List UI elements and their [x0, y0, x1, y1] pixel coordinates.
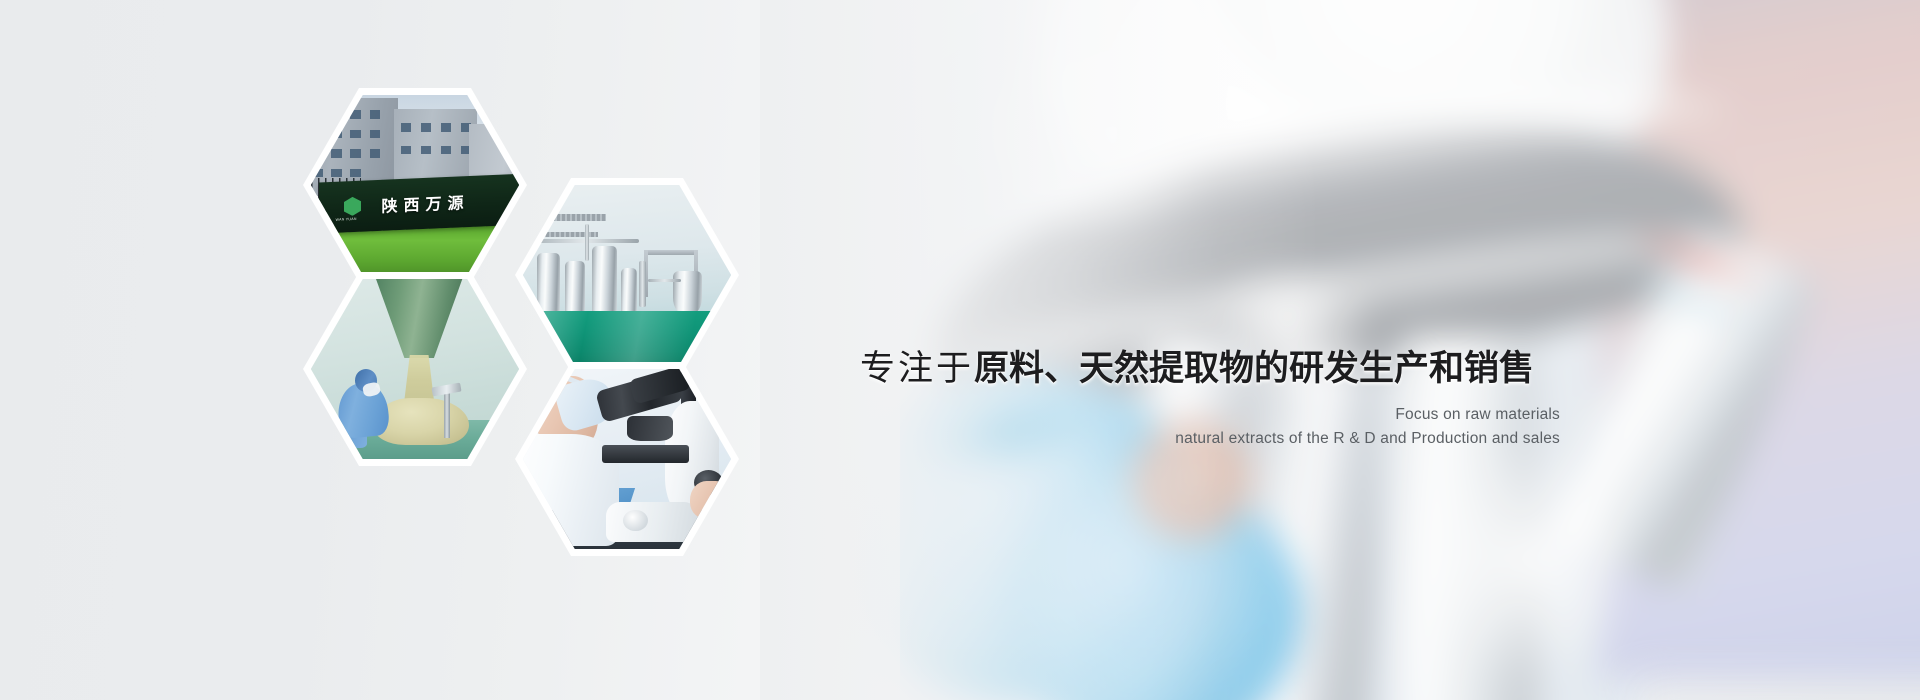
microscope-nosepiece: [627, 416, 673, 441]
company-logo-hex-icon: [344, 196, 361, 216]
floor-reflection: [523, 311, 731, 365]
lab-photo: [523, 369, 731, 549]
extraction-tank-1: [537, 253, 560, 314]
company-sign-wall: WAN YUAN 陕西万源: [319, 173, 519, 233]
hex-image-lab-microscope: [523, 369, 731, 549]
company-sign-text: 陕西万源: [382, 189, 470, 217]
hex-frame: [515, 362, 739, 556]
extraction-tank-2: [565, 261, 586, 315]
headline-emphasis: 原料、天然提取物的研发生产和销售: [974, 349, 1534, 388]
hex-clip: [523, 185, 731, 365]
extraction-tank-3: [592, 246, 617, 315]
hex-frame: [515, 178, 739, 372]
hexagon-photo-cluster: WAN YUAN 陕西万源: [0, 0, 900, 700]
hex-clip: [523, 369, 731, 549]
page-title: 专注于原料、天然提取物的研发生产和销售: [860, 348, 1560, 389]
extraction-tank-4: [621, 268, 638, 315]
specular-highlight-3: [940, 50, 1240, 230]
hero-banner: WAN YUAN 陕西万源: [0, 0, 1920, 700]
subtitle-line-1: Focus on raw materials: [1395, 406, 1560, 423]
factory-photo: WAN YUAN 陕西万源: [311, 95, 519, 275]
hex-clip: [311, 279, 519, 459]
company-logo-text: WAN YUAN: [336, 217, 357, 222]
workshop-photo: [523, 185, 731, 365]
microscope-stage: [602, 445, 689, 463]
specular-highlight-2: [1440, 410, 1620, 700]
hex-factory-exterior[interactable]: WAN YUAN 陕西万源: [303, 88, 527, 282]
lawn: [311, 225, 519, 276]
packing-photo: [311, 279, 519, 459]
hex-powder-packing[interactable]: [303, 272, 527, 466]
hex-frame: [303, 272, 527, 466]
extraction-tank-5: [673, 271, 702, 314]
banner-subtitle: Focus on raw materials natural extracts …: [860, 403, 1560, 450]
hex-extraction-workshop[interactable]: [515, 178, 739, 372]
subtitle-line-2: natural extracts of the R & D and Produc…: [860, 427, 1560, 450]
microscope-base: [606, 502, 698, 542]
equipment-stand: [444, 391, 450, 438]
headline-lead: 专注于: [860, 349, 974, 388]
hex-image-powder-packing: [311, 279, 519, 459]
banner-copy: 专注于原料、天然提取物的研发生产和销售 Focus on raw materia…: [860, 348, 1560, 450]
technician-hand: [690, 481, 727, 521]
hex-lab-microscope[interactable]: [515, 362, 739, 556]
microscope-light-knob: [623, 510, 648, 532]
hex-frame: WAN YUAN 陕西万源: [303, 88, 527, 282]
hex-clip: WAN YUAN 陕西万源: [311, 95, 519, 275]
hex-image-factory-exterior: WAN YUAN 陕西万源: [311, 95, 519, 275]
hex-image-extraction-workshop: [523, 185, 731, 365]
